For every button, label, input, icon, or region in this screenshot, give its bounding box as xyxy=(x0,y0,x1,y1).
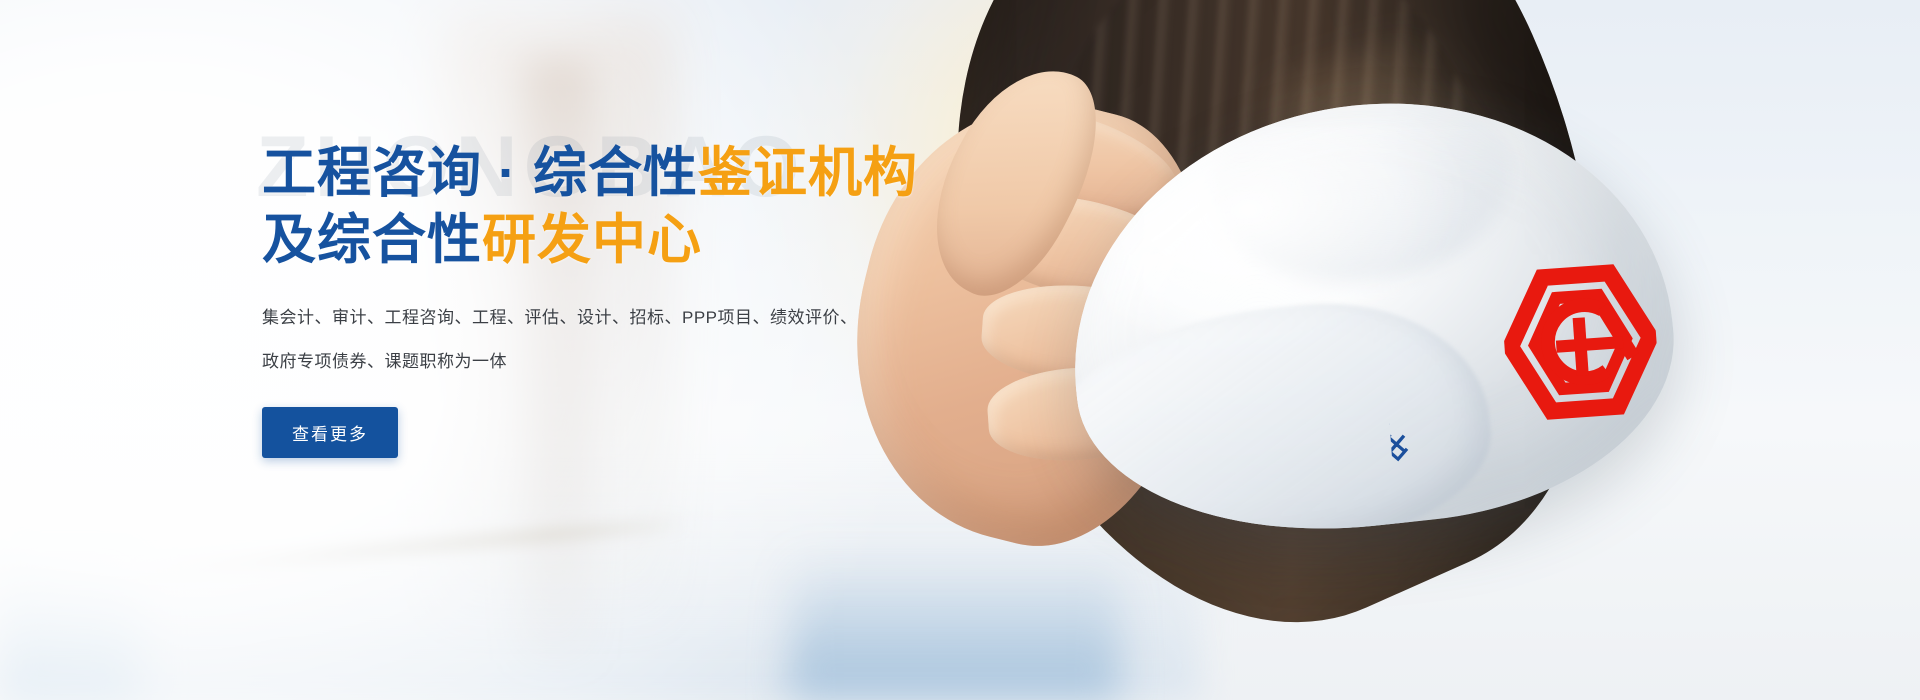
view-more-button[interactable]: 查看更多 xyxy=(262,407,398,458)
headline-line-1: 工程咨询 · 综合性鉴证机构 xyxy=(262,140,1082,207)
helmet-logo: 中宝工程管理 xyxy=(1371,141,1673,480)
headline-line-2-blue: 及综合性 xyxy=(262,210,482,270)
headline-line-2: 及综合性研发中心 xyxy=(262,207,1082,274)
description-line-2: 政府专项债券、课题职称为一体 xyxy=(262,352,1082,372)
hero-description: 集会计、审计、工程咨询、工程、评估、设计、招标、PPP项目、绩效评价、 政府专项… xyxy=(262,308,1082,373)
headline-line-1-blue: 工程咨询 · 综合性 xyxy=(262,143,698,203)
headline-line-2-orange: 研发中心 xyxy=(482,210,702,270)
hero-banner: 中宝工程管理 ZHONGBAO 工程咨询 · 综合性鉴证机构 及综合性研发中心 xyxy=(0,0,1920,700)
description-line-1: 集会计、审计、工程咨询、工程、评估、设计、招标、PPP项目、绩效评价、 xyxy=(262,308,1082,328)
hero-copy: ZHONGBAO 工程咨询 · 综合性鉴证机构 及综合性研发中心 集会计、审计、… xyxy=(262,140,1082,458)
hexagon-zhongbao-mark-icon xyxy=(1499,261,1661,423)
headline: 工程咨询 · 综合性鉴证机构 及综合性研发中心 xyxy=(262,140,1082,274)
headline-line-1-orange: 鉴证机构 xyxy=(698,143,918,203)
